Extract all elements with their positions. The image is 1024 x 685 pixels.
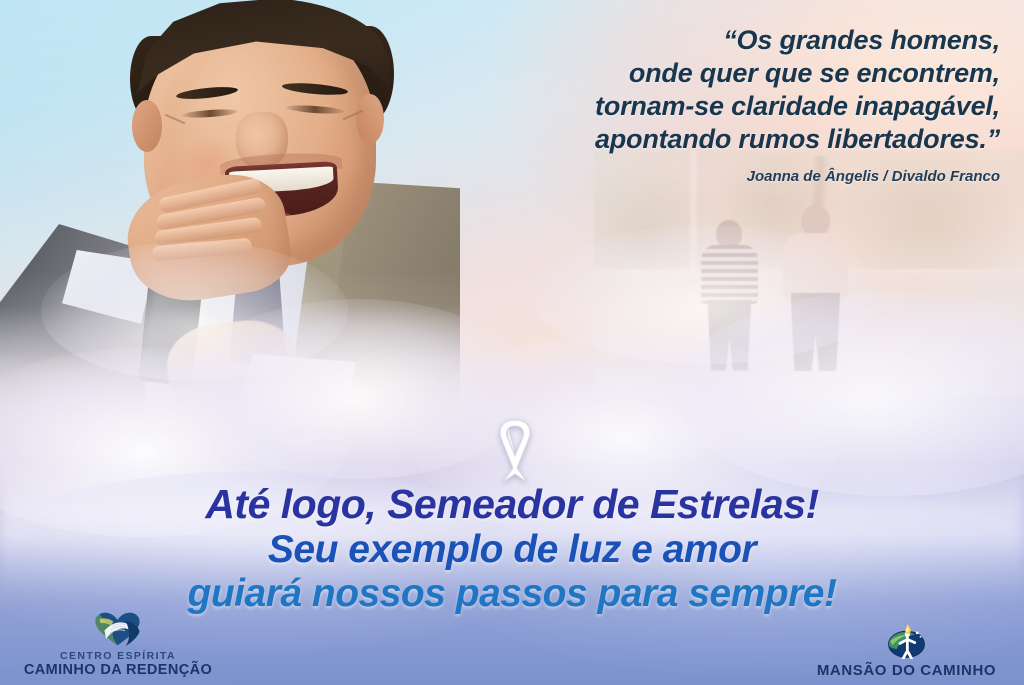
quote-line-2: onde quer que se encontrem, <box>360 57 1000 90</box>
headline-line-3: guiará nossos passos para sempre! <box>0 574 1024 613</box>
photo-person-head <box>801 205 830 236</box>
portrait-bottom-fade <box>0 307 460 442</box>
logo-right-line-2: MANSÃO DO CAMINHO <box>817 662 996 679</box>
quote-block: “Os grandes homens, onde quer que se enc… <box>360 24 1000 185</box>
globe-figure-flame-logo-icon <box>882 623 931 659</box>
quote-line-4: apontando rumos libertadores.” <box>360 123 1000 156</box>
photo-person-white-shirt <box>783 233 847 298</box>
quote-line-1: “Os grandes homens, <box>360 24 1000 57</box>
headline-line-1: Até logo, Semeador de Estrelas! <box>0 484 1024 525</box>
photo-person-adult <box>779 205 852 368</box>
photo-person-child <box>697 220 762 368</box>
white-mourning-ribbon-icon <box>483 412 547 488</box>
headline-line-2: Seu exemplo de luz e amor <box>0 530 1024 569</box>
quote-line-3: tornam-se claridade inapagável, <box>360 90 1000 123</box>
logo-mansao-do-caminho[interactable]: MANSÃO DO CAMINHO <box>799 623 1014 679</box>
portrait-ear-left <box>132 100 162 152</box>
logo-left-line-1: CENTRO ESPÍRITA <box>60 650 176 662</box>
quote-attribution: Joanna de Ângelis / Divaldo Franco <box>360 168 1000 185</box>
logo-centro-espirita[interactable]: CENTRO ESPÍRITA CAMINHO DA REDENÇÃO <box>18 611 218 679</box>
heart-with-hands-logo-icon <box>93 611 142 647</box>
poster-canvas: “Os grandes homens, onde quer que se enc… <box>0 0 1024 685</box>
logo-left-line-2: CAMINHO DA REDENÇÃO <box>24 662 212 679</box>
headline-block: Até logo, Semeador de Estrelas! Seu exem… <box>0 484 1024 613</box>
photo-person-head <box>716 220 742 248</box>
photo-person-striped-shirt <box>701 245 758 304</box>
